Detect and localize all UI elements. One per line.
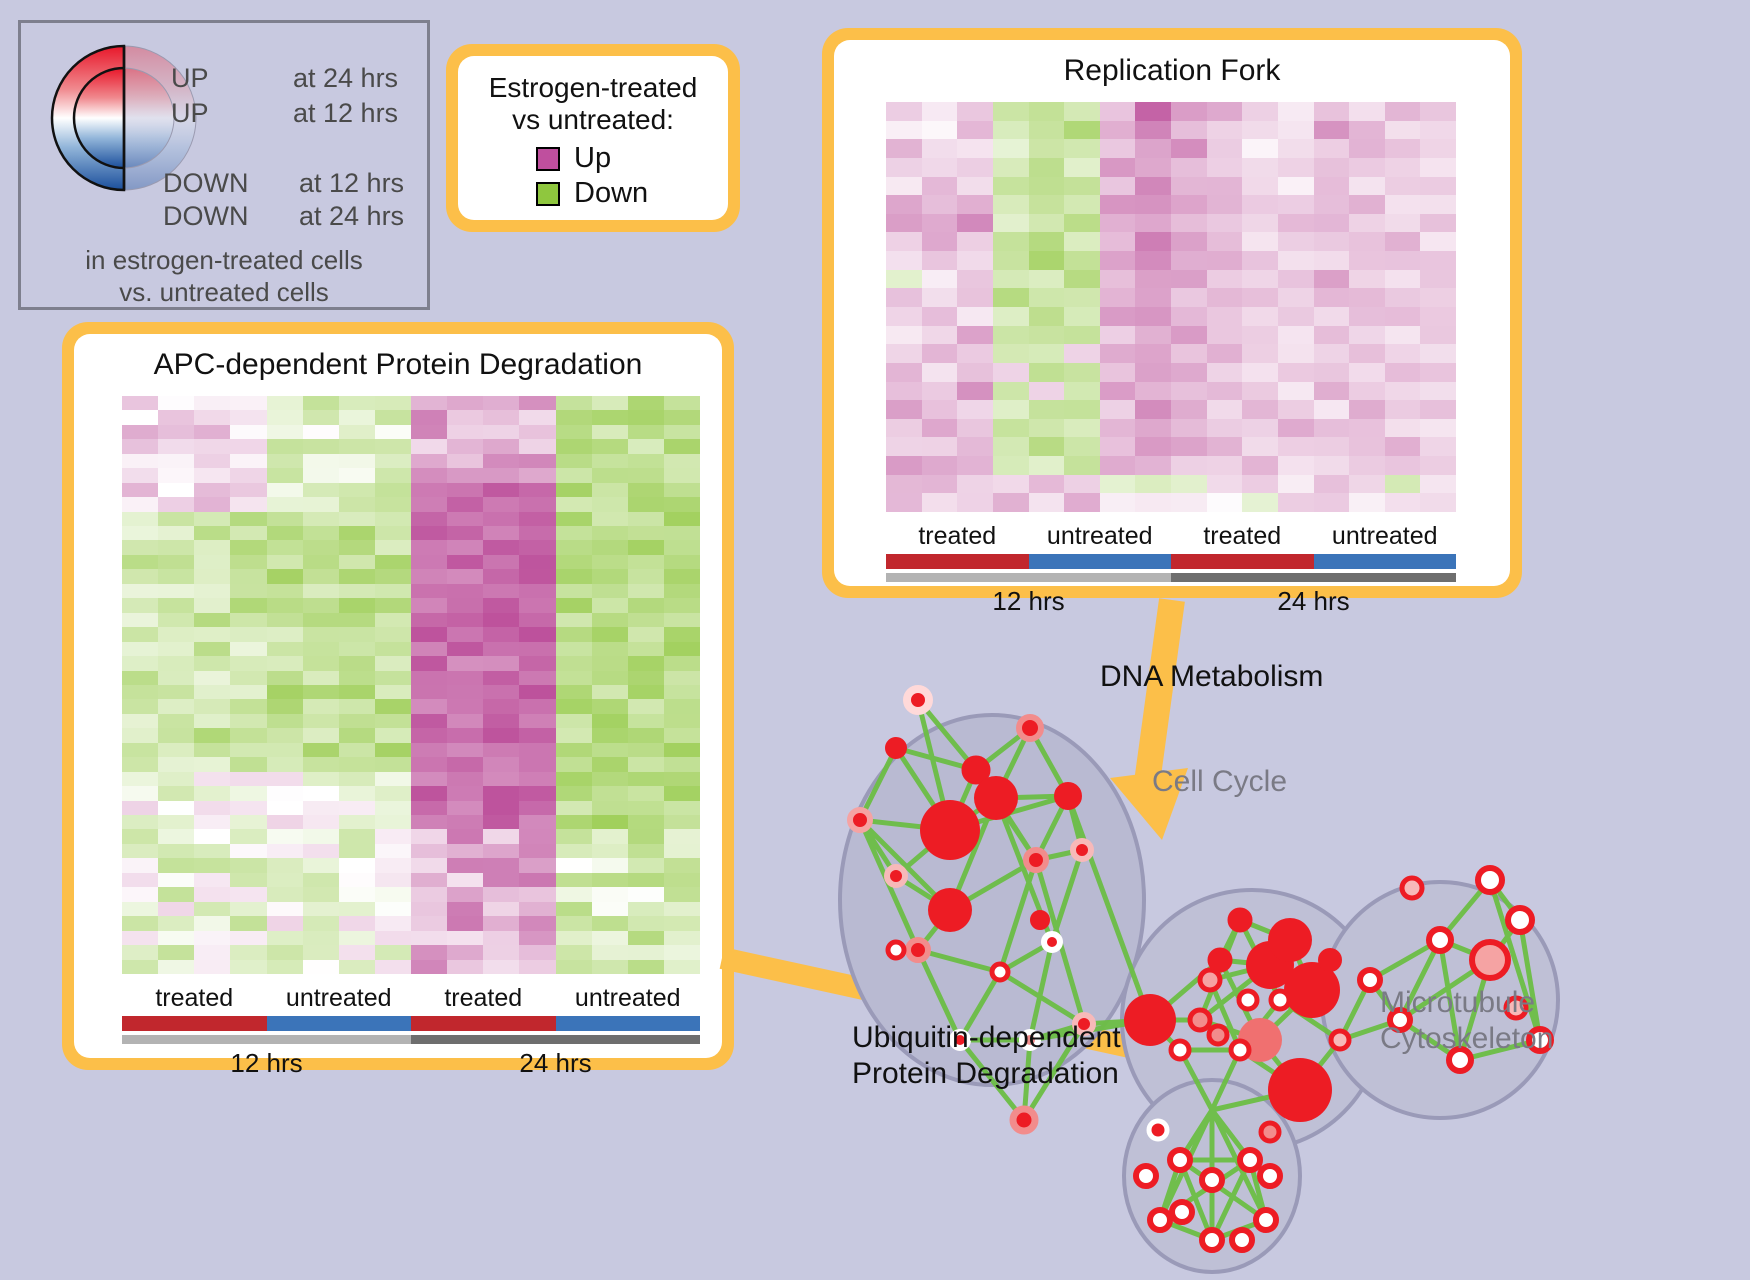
heatmap-cell — [1349, 419, 1385, 438]
heatmap-cell — [122, 902, 158, 916]
heatmap-cell — [447, 829, 483, 843]
heatmap-cell — [158, 598, 194, 612]
heatmap-cell — [1135, 251, 1171, 270]
heatmap-cell — [1135, 214, 1171, 233]
heatmap-cell — [1029, 251, 1065, 270]
heatmap-cell — [556, 642, 592, 656]
heatmap-cell — [1385, 456, 1421, 475]
heatmap-cell — [158, 497, 194, 511]
heatmap-cell — [411, 540, 447, 554]
heatmap-cell — [1314, 456, 1350, 475]
heatmap-cell — [1349, 195, 1385, 214]
heatmap-cell — [1420, 437, 1456, 456]
heatmap-cell — [483, 844, 519, 858]
heatmap-cell — [303, 844, 339, 858]
heatmap-cell — [592, 512, 628, 526]
heatmap-cell — [447, 786, 483, 800]
heatmap-cell — [375, 569, 411, 583]
heatmap-cell — [1171, 437, 1207, 456]
replication-fork-heatmap — [886, 102, 1456, 512]
heatmap-cell — [303, 916, 339, 930]
heatmap-cell — [519, 931, 555, 945]
rf-bar-treated-12 — [886, 554, 1029, 569]
heatmap-cell — [303, 483, 339, 497]
heatmap-cell — [664, 801, 700, 815]
heatmap-cell — [194, 410, 230, 424]
heatmap-cell — [664, 627, 700, 641]
rf-treatment-bar — [886, 554, 1456, 569]
heatmap-cell — [664, 598, 700, 612]
heatmap-cell — [447, 873, 483, 887]
heatmap-cell — [519, 772, 555, 786]
heatmap-cell — [592, 540, 628, 554]
heatmap-cell — [339, 902, 375, 916]
heatmap-cell — [483, 656, 519, 670]
label-dna-metabolism: DNA Metabolism — [1100, 660, 1323, 694]
heatmap-cell — [1171, 344, 1207, 363]
heatmap-cell — [339, 786, 375, 800]
heatmap-cell — [375, 540, 411, 554]
heatmap-cell — [556, 410, 592, 424]
heatmap-cell — [158, 396, 194, 410]
heatmap-cell — [1420, 121, 1456, 140]
heatmap-cell — [1420, 456, 1456, 475]
apc-group-label-2: treated — [411, 984, 556, 1013]
heatmap-cell — [267, 714, 303, 728]
heatmap-cell — [1385, 326, 1421, 345]
heatmap-cell — [483, 410, 519, 424]
heatmap-cell — [556, 656, 592, 670]
heatmap-cell — [267, 815, 303, 829]
heatmap-cell — [592, 526, 628, 540]
legend-up-12h-label: UP — [171, 98, 209, 129]
heatmap-cell — [122, 598, 158, 612]
apc-bar-treated-12 — [122, 1016, 267, 1031]
heatmap-cell — [194, 931, 230, 945]
heatmap-cell — [664, 468, 700, 482]
rf-time-bar — [886, 573, 1456, 582]
heatmap-cell — [556, 815, 592, 829]
heatmap-cell — [375, 425, 411, 439]
heatmap-cell — [1135, 139, 1171, 158]
heatmap-cell — [1385, 288, 1421, 307]
heatmap-cell — [1064, 158, 1100, 177]
heatmap-cell — [447, 772, 483, 786]
heatmap-cell — [339, 945, 375, 959]
heatmap-cell — [447, 555, 483, 569]
heatmap-cell — [664, 960, 700, 974]
heatmap-cell — [483, 728, 519, 742]
heatmap-cell — [1100, 288, 1136, 307]
heatmap-cell — [194, 540, 230, 554]
heatmap-cell — [592, 714, 628, 728]
heatmap-cell — [1207, 326, 1243, 345]
heatmap-cell — [519, 757, 555, 771]
rf-time-labels: 12 hrs 24 hrs — [886, 586, 1456, 617]
heatmap-cell — [886, 419, 922, 438]
heatmap-cell — [993, 456, 1029, 475]
heatmap-cell — [1349, 307, 1385, 326]
heatmap-cell — [158, 468, 194, 482]
heatmap-cell — [230, 410, 266, 424]
heatmap-cell — [194, 512, 230, 526]
heatmap-cell — [628, 584, 664, 598]
heatmap-cell — [993, 493, 1029, 512]
heatmap-cell — [303, 960, 339, 974]
heatmap-cell — [664, 526, 700, 540]
rf-group-label-3: untreated — [1314, 522, 1457, 551]
heatmap-cell — [267, 627, 303, 641]
heatmap-cell — [1242, 251, 1278, 270]
heatmap-cell — [519, 699, 555, 713]
heatmap-cell — [1064, 493, 1100, 512]
heatmap-cell — [1064, 232, 1100, 251]
heatmap-cell — [1064, 344, 1100, 363]
heatmap-cell — [303, 627, 339, 641]
heatmap-cell — [375, 728, 411, 742]
heatmap-cell — [1242, 419, 1278, 438]
heatmap-cell — [339, 728, 375, 742]
heatmap-cell — [447, 671, 483, 685]
heatmap-cell — [158, 439, 194, 453]
heatmap-cell — [267, 887, 303, 901]
heatmap-cell — [922, 382, 958, 401]
heatmap-cell — [1100, 214, 1136, 233]
heatmap-cell — [230, 902, 266, 916]
heatmap-cell — [664, 540, 700, 554]
heatmap-cell — [1135, 270, 1171, 289]
heatmap-cell — [1100, 121, 1136, 140]
heatmap-cell — [628, 410, 664, 424]
heatmap-cell — [628, 743, 664, 757]
legend-down-12h-label: DOWN — [163, 168, 248, 199]
heatmap-cell — [1349, 326, 1385, 345]
heatmap-cell — [339, 540, 375, 554]
heatmap-cell — [519, 569, 555, 583]
heatmap-cell — [1029, 121, 1065, 140]
heatmap-cell — [664, 699, 700, 713]
heatmap-cell — [556, 887, 592, 901]
heatmap-cell — [922, 102, 958, 121]
heatmap-cell — [1064, 121, 1100, 140]
heatmap-cell — [411, 613, 447, 627]
heatmap-cell — [592, 685, 628, 699]
heatmap-cell — [447, 396, 483, 410]
heatmap-cell — [230, 916, 266, 930]
heatmap-cell — [592, 931, 628, 945]
rf-bar-24hrs — [1171, 573, 1456, 582]
heatmap-cell — [375, 396, 411, 410]
apc-time-labels: 12 hrs 24 hrs — [122, 1048, 700, 1079]
heatmap-cell — [158, 627, 194, 641]
heatmap-cell — [483, 454, 519, 468]
rf-bar-treated-24 — [1171, 554, 1314, 569]
heatmap-cell — [1385, 158, 1421, 177]
apc-group-labels: treated untreated treated untreated — [122, 984, 700, 1013]
heatmap-cell — [411, 685, 447, 699]
heatmap-cell — [1171, 195, 1207, 214]
heatmap-cell — [1349, 456, 1385, 475]
apc-group-label-3: untreated — [556, 984, 701, 1013]
heatmap-cell — [1349, 214, 1385, 233]
heatmap-cell — [664, 512, 700, 526]
heatmap-cell — [1242, 475, 1278, 494]
heatmap-cell — [886, 102, 922, 121]
heatmap-cell — [1100, 326, 1136, 345]
heatmap-cell — [922, 437, 958, 456]
heatmap-cell — [194, 945, 230, 959]
apc-bar-untreated-24 — [556, 1016, 701, 1031]
heatmap-cell — [303, 728, 339, 742]
heatmap-cell — [375, 873, 411, 887]
heatmap-cell — [519, 613, 555, 627]
heatmap-cell — [886, 400, 922, 419]
heatmap-cell — [1100, 419, 1136, 438]
heatmap-cell — [158, 945, 194, 959]
heatmap-cell — [1100, 251, 1136, 270]
heatmap-cell — [194, 613, 230, 627]
heatmap-cell — [957, 102, 993, 121]
heatmap-cell — [1135, 437, 1171, 456]
heatmap-cell — [267, 685, 303, 699]
heatmap-cell — [1100, 270, 1136, 289]
heatmap-cell — [1314, 326, 1350, 345]
heatmap-cell — [194, 439, 230, 453]
heatmap-cell — [447, 699, 483, 713]
rf-group-labels: treated untreated treated untreated — [886, 522, 1456, 551]
heatmap-cell — [303, 699, 339, 713]
heatmap-cell — [556, 396, 592, 410]
heatmap-cell — [993, 344, 1029, 363]
heatmap-cell — [957, 382, 993, 401]
heatmap-cell — [519, 656, 555, 670]
heatmap-cell — [483, 613, 519, 627]
heatmap-cell — [556, 497, 592, 511]
heatmap-cell — [1064, 214, 1100, 233]
heatmap-cell — [1420, 400, 1456, 419]
heatmap-cell — [339, 497, 375, 511]
heatmap-cell — [592, 642, 628, 656]
heatmap-cell — [411, 801, 447, 815]
heatmap-cell — [375, 526, 411, 540]
heatmap-cell — [1029, 344, 1065, 363]
heatmap-cell — [1100, 195, 1136, 214]
heatmap-cell — [1349, 437, 1385, 456]
heatmap-cell — [519, 497, 555, 511]
heatmap-cell — [592, 786, 628, 800]
heatmap-cell — [922, 232, 958, 251]
heatmap-cell — [1135, 307, 1171, 326]
heatmap-cell — [556, 931, 592, 945]
heatmap-cell — [1029, 232, 1065, 251]
heatmap-cell — [483, 945, 519, 959]
heatmap-cell — [556, 829, 592, 843]
heatmap-cell — [1314, 177, 1350, 196]
heatmap-cell — [592, 439, 628, 453]
heatmap-cell — [1064, 288, 1100, 307]
heatmap-cell — [194, 627, 230, 641]
heatmap-cell — [411, 425, 447, 439]
heatmap-cell — [411, 699, 447, 713]
heatmap-cell — [519, 439, 555, 453]
heatmap-cell — [158, 569, 194, 583]
heatmap-cell — [1385, 419, 1421, 438]
heatmap-cell — [1064, 251, 1100, 270]
heatmap-cell — [122, 642, 158, 656]
heatmap-cell — [556, 439, 592, 453]
heatmap-cell — [339, 815, 375, 829]
heatmap-cell — [1171, 121, 1207, 140]
heatmap-cell — [339, 410, 375, 424]
heatmap-cell — [375, 483, 411, 497]
heatmap-cell — [628, 454, 664, 468]
heatmap-cell — [122, 945, 158, 959]
heatmap-cell — [1349, 400, 1385, 419]
heatmap-cell — [1314, 270, 1350, 289]
heatmap-cell — [122, 454, 158, 468]
heatmap-cell — [339, 569, 375, 583]
heatmap-cell — [664, 671, 700, 685]
heatmap-cell — [957, 437, 993, 456]
heatmap-cell — [122, 858, 158, 872]
heatmap-cell — [519, 829, 555, 843]
heatmap-cell — [628, 526, 664, 540]
heatmap-cell — [628, 396, 664, 410]
heatmap-cell — [664, 483, 700, 497]
heatmap-cell — [957, 270, 993, 289]
heatmap-cell — [1242, 326, 1278, 345]
heatmap-cell — [592, 598, 628, 612]
heatmap-cell — [158, 526, 194, 540]
heatmap-cell — [483, 815, 519, 829]
heatmap-cell — [1278, 232, 1314, 251]
heatmap-cell — [122, 829, 158, 843]
heatmap-cell — [1171, 326, 1207, 345]
heatmap-cell — [483, 569, 519, 583]
heatmap-cell — [230, 526, 266, 540]
heatmap-cell — [519, 642, 555, 656]
heatmap-cell — [1207, 437, 1243, 456]
heatmap-cell — [1349, 475, 1385, 494]
heatmap-cell — [592, 743, 628, 757]
heatmap-cell — [556, 569, 592, 583]
heatmap-cell — [886, 139, 922, 158]
heatmap-cell — [519, 627, 555, 641]
heatmap-cell — [922, 456, 958, 475]
heatmap-cell — [447, 642, 483, 656]
heatmap-cell — [556, 454, 592, 468]
heatmap-cell — [957, 232, 993, 251]
heatmap-cell — [303, 555, 339, 569]
heatmap-cell — [194, 786, 230, 800]
heatmap-cell — [483, 786, 519, 800]
heatmap-cell — [411, 555, 447, 569]
heatmap-cell — [447, 512, 483, 526]
heatmap-cell — [1314, 139, 1350, 158]
heatmap-cell — [1420, 475, 1456, 494]
heatmap-cell — [922, 326, 958, 345]
heatmap-cell — [267, 526, 303, 540]
heatmap-cell — [556, 512, 592, 526]
heatmap-cell — [664, 410, 700, 424]
heatmap-cell — [1278, 400, 1314, 419]
heatmap-cell — [303, 425, 339, 439]
heatmap-cell — [1278, 158, 1314, 177]
heatmap-cell — [267, 772, 303, 786]
rf-bar-untreated-12 — [1029, 554, 1172, 569]
heatmap-cell — [230, 801, 266, 815]
heatmap-cell — [1314, 419, 1350, 438]
heatmap-cell — [375, 801, 411, 815]
heatmap-cell — [339, 439, 375, 453]
apc-degradation-panel: APC-dependent Protein Degradation treate… — [62, 322, 734, 1070]
heatmap-cell — [1100, 344, 1136, 363]
heatmap-cell — [1278, 251, 1314, 270]
heatmap-cell — [267, 396, 303, 410]
heatmap-cell — [886, 232, 922, 251]
heatmap-cell — [483, 699, 519, 713]
heatmap-cell — [158, 829, 194, 843]
heatmap-cell — [1135, 158, 1171, 177]
heatmap-cell — [411, 468, 447, 482]
heatmap-cell — [375, 786, 411, 800]
heatmap-cell — [993, 214, 1029, 233]
heatmap-cell — [592, 844, 628, 858]
heatmap-cell — [1385, 493, 1421, 512]
heatmap-cell — [303, 757, 339, 771]
heatmap-cell — [886, 344, 922, 363]
heatmap-cell — [230, 497, 266, 511]
heatmap-cell — [483, 540, 519, 554]
heatmap-cell — [122, 786, 158, 800]
heatmap-cell — [628, 512, 664, 526]
heatmap-cell — [1242, 139, 1278, 158]
heatmap-cell — [1100, 307, 1136, 326]
heatmap-cell — [664, 569, 700, 583]
heatmap-cell — [230, 858, 266, 872]
heatmap-cell — [267, 858, 303, 872]
heatmap-cell — [1349, 270, 1385, 289]
heatmap-cell — [592, 425, 628, 439]
heatmap-cell — [1064, 307, 1100, 326]
heatmap-cell — [592, 569, 628, 583]
heatmap-cell — [339, 887, 375, 901]
heatmap-cell — [267, 902, 303, 916]
heatmap-cell — [303, 815, 339, 829]
heatmap-cell — [411, 772, 447, 786]
heatmap-cell — [1242, 121, 1278, 140]
heatmap-cell — [1029, 456, 1065, 475]
heatmap-cell — [1242, 493, 1278, 512]
heatmap-cell — [1242, 288, 1278, 307]
heatmap-cell — [664, 887, 700, 901]
heatmap-cell — [122, 844, 158, 858]
heatmap-cell — [1100, 456, 1136, 475]
heatmap-cell — [1029, 400, 1065, 419]
heatmap-cell — [1420, 326, 1456, 345]
heatmap-cell — [158, 613, 194, 627]
heatmap-cell — [1420, 270, 1456, 289]
heatmap-cell — [993, 363, 1029, 382]
heatmap-cell — [194, 569, 230, 583]
apc-time-label-24: 24 hrs — [411, 1048, 700, 1079]
heatmap-cell — [122, 714, 158, 728]
heatmap-cell — [447, 728, 483, 742]
heatmap-cell — [957, 493, 993, 512]
heatmap-cell — [993, 419, 1029, 438]
heatmap-cell — [1349, 232, 1385, 251]
heatmap-cell — [1242, 195, 1278, 214]
